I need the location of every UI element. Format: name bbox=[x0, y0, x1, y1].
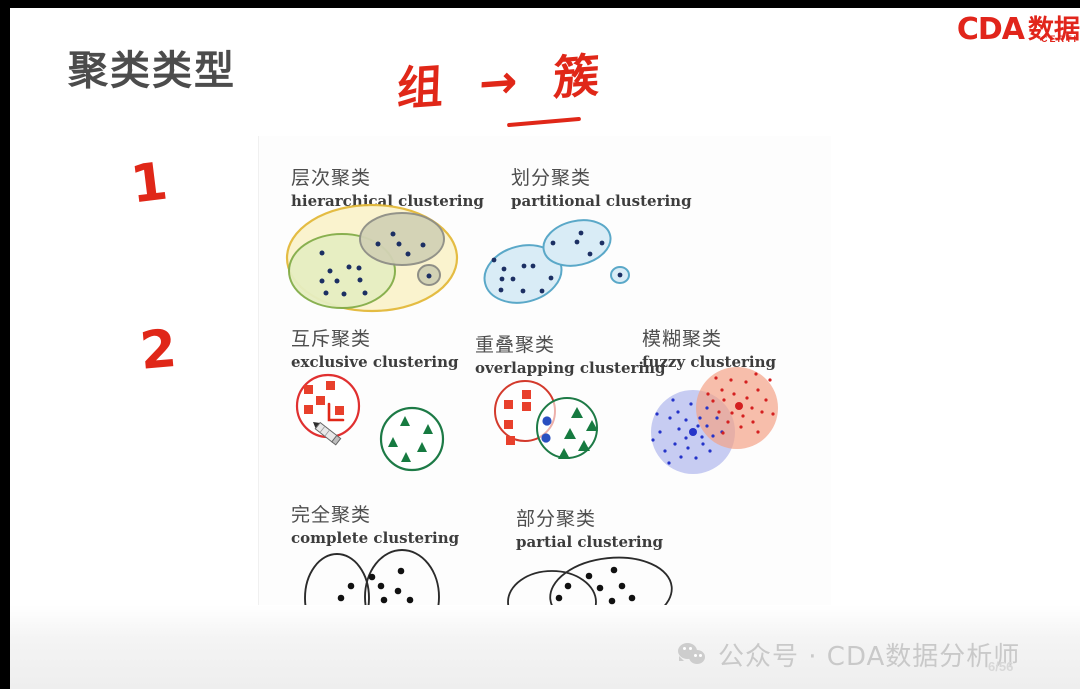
slide-canvas: 聚类类型 CDA 数据 CERTI 组 → 簇 1 2 层次聚类 hierarc… bbox=[10, 8, 1080, 689]
page-counter: 6/56 bbox=[988, 659, 1013, 674]
label-en: fuzzy clustering bbox=[642, 353, 776, 371]
wechat-icon bbox=[678, 642, 708, 668]
logo-brand-text: CDA bbox=[957, 15, 1024, 45]
handwritten-underline bbox=[507, 117, 581, 127]
label-exclusive-clustering: 互斥聚类 exclusive clustering bbox=[291, 324, 459, 371]
handwritten-marker-1: 1 bbox=[128, 156, 170, 212]
cda-logo: CDA 数据 bbox=[957, 10, 1080, 50]
watermark: 公众号 · CDA数据分析师 bbox=[678, 636, 1020, 673]
label-en: overlapping clustering bbox=[475, 359, 666, 377]
video-player-frame: 聚类类型 CDA 数据 CERTI 组 → 簇 1 2 层次聚类 hierarc… bbox=[0, 0, 1080, 689]
page-title: 聚类类型 bbox=[68, 51, 236, 91]
figure-panel bbox=[258, 136, 831, 639]
label-cn: 重叠聚类 bbox=[475, 330, 666, 357]
label-cn: 划分聚类 bbox=[511, 163, 692, 190]
label-en: partitional clustering bbox=[511, 192, 692, 210]
label-en: exclusive clustering bbox=[291, 353, 459, 371]
label-overlapping-clustering: 重叠聚类 overlapping clustering bbox=[475, 330, 666, 377]
label-en: partial clustering bbox=[516, 533, 663, 551]
label-cn: 模糊聚类 bbox=[642, 324, 776, 351]
logo-subtitle: CERTI bbox=[1041, 34, 1078, 44]
label-cn: 层次聚类 bbox=[291, 163, 484, 190]
label-complete-clustering: 完全聚类 complete clustering bbox=[291, 500, 459, 547]
label-fuzzy-clustering: 模糊聚类 fuzzy clustering bbox=[642, 324, 776, 371]
label-cn: 互斥聚类 bbox=[291, 324, 459, 351]
handwritten-note: 组 → 簇 bbox=[396, 51, 610, 112]
label-en: complete clustering bbox=[291, 529, 459, 547]
label-cn: 部分聚类 bbox=[516, 504, 663, 531]
label-cn: 完全聚类 bbox=[291, 500, 459, 527]
handwritten-marker-2: 2 bbox=[138, 323, 179, 378]
label-partitional-clustering: 划分聚类 partitional clustering bbox=[511, 163, 692, 210]
label-hierarchical-clustering: 层次聚类 hierarchical clustering bbox=[291, 163, 484, 210]
label-en: hierarchical clustering bbox=[291, 192, 484, 210]
label-partial-clustering: 部分聚类 partial clustering bbox=[516, 504, 663, 551]
watermark-text: 公众号 · CDA数据分析师 bbox=[718, 636, 1020, 673]
